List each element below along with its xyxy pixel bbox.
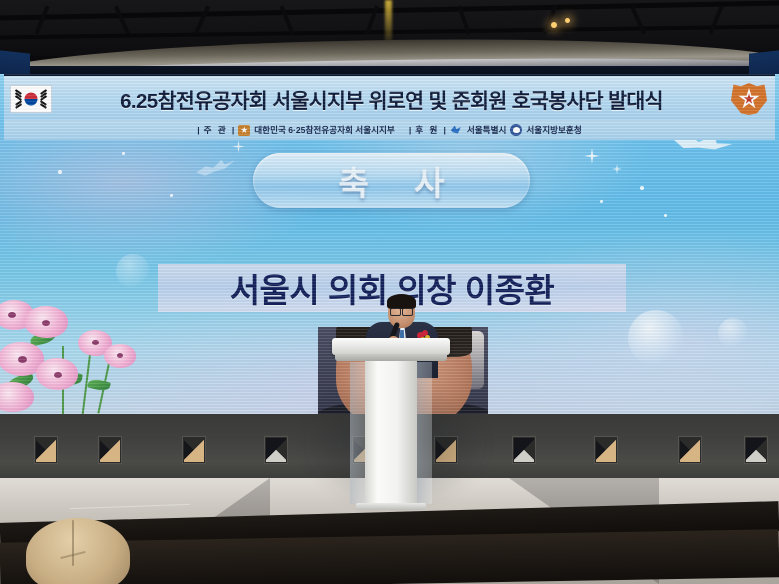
veterans-star-emblem-icon [731, 83, 767, 115]
soft-light-orb-icon [628, 310, 684, 366]
divider-left: | [409, 125, 411, 135]
organizer-name: 대한민국 6·25참전유공자회 서울시지부 [254, 124, 395, 136]
speaker-hair [387, 294, 416, 309]
program-title-text: 축 사 [321, 157, 463, 205]
speaker-glasses-icon [390, 308, 413, 314]
sparkle-dot-icon [600, 200, 603, 203]
truss-diagonal-icon [194, 5, 210, 34]
sponsor-two-name: 서울지방보훈청 [526, 124, 581, 136]
sparkle-dot-icon [122, 152, 125, 155]
banner-credits-row: | 주 관 | 대한민국 6·25참전유공자회 서울시지부 | 후 원 | 서울… [4, 120, 775, 140]
divider-left: | [197, 125, 199, 135]
korean-flag-icon [10, 85, 52, 113]
soft-light-orb-icon [116, 254, 150, 288]
seoul-city-logo-icon [450, 125, 463, 136]
audience-member-cap [26, 518, 130, 584]
pink-cosmos-flower-icon [0, 284, 140, 414]
wall-sconce-panel-icon [744, 436, 768, 464]
sponsor-label: 후 원 [415, 124, 439, 136]
podium-base [356, 503, 426, 510]
sparkle-dot-icon [58, 170, 62, 174]
veterans-association-icon [238, 125, 250, 136]
wall-sconce-panel-icon [512, 436, 536, 464]
banner-title: 6.25참전유공자회 서울시지부 위로연 및 준회원 호국봉사단 발대식 [52, 84, 731, 114]
cap-seam [72, 520, 74, 566]
divider-right: | [443, 125, 445, 135]
organizer-group: | 주 관 | 대한민국 6·25참전유공자회 서울시지부 [197, 124, 395, 136]
stage-scene: 6.25참전유공자회 서울시지부 위로연 및 준회원 호국봉사단 발대식 | 주… [0, 0, 779, 584]
podium-lip [335, 354, 447, 361]
podium-top-surface [332, 338, 450, 355]
wall-sconce-panel-icon [98, 436, 122, 464]
program-title-pill: 축 사 [253, 153, 530, 208]
truss-diagonal-icon [35, 5, 50, 34]
speaker-podium [332, 338, 450, 510]
wall-sconce-panel-icon [182, 436, 206, 464]
soft-light-orb-icon [718, 318, 748, 348]
wall-sconce-panel-icon [34, 436, 58, 464]
sparkle-dot-icon [640, 186, 644, 190]
ceiling-spot-light-icon [551, 22, 557, 28]
wall-sconce-panel-icon [594, 436, 618, 464]
truss-diagonal-icon [114, 5, 130, 34]
organizer-label: 주 관 [204, 124, 228, 136]
sponsor-one-name: 서울특별시 [467, 124, 507, 136]
divider-right: | [232, 125, 234, 135]
sponsor-group: | 후 원 | 서울특별시 서울지방보훈청 [409, 124, 582, 136]
sparkle-dot-icon [170, 194, 173, 197]
sparkle-dot-icon [664, 214, 667, 217]
wall-sconce-panel-icon [264, 436, 288, 464]
event-banner: 6.25참전유공자회 서울시지부 위로연 및 준회원 호국봉사단 발대식 [4, 74, 775, 122]
wall-sconce-panel-icon [678, 436, 702, 464]
podium-column [365, 360, 417, 508]
truss-diagonal-icon [709, 5, 724, 34]
podium-glass-left [350, 362, 365, 504]
podium-glass-right [417, 362, 432, 504]
ceiling-spot-light-icon [565, 18, 570, 23]
government-ministry-icon [510, 124, 522, 136]
